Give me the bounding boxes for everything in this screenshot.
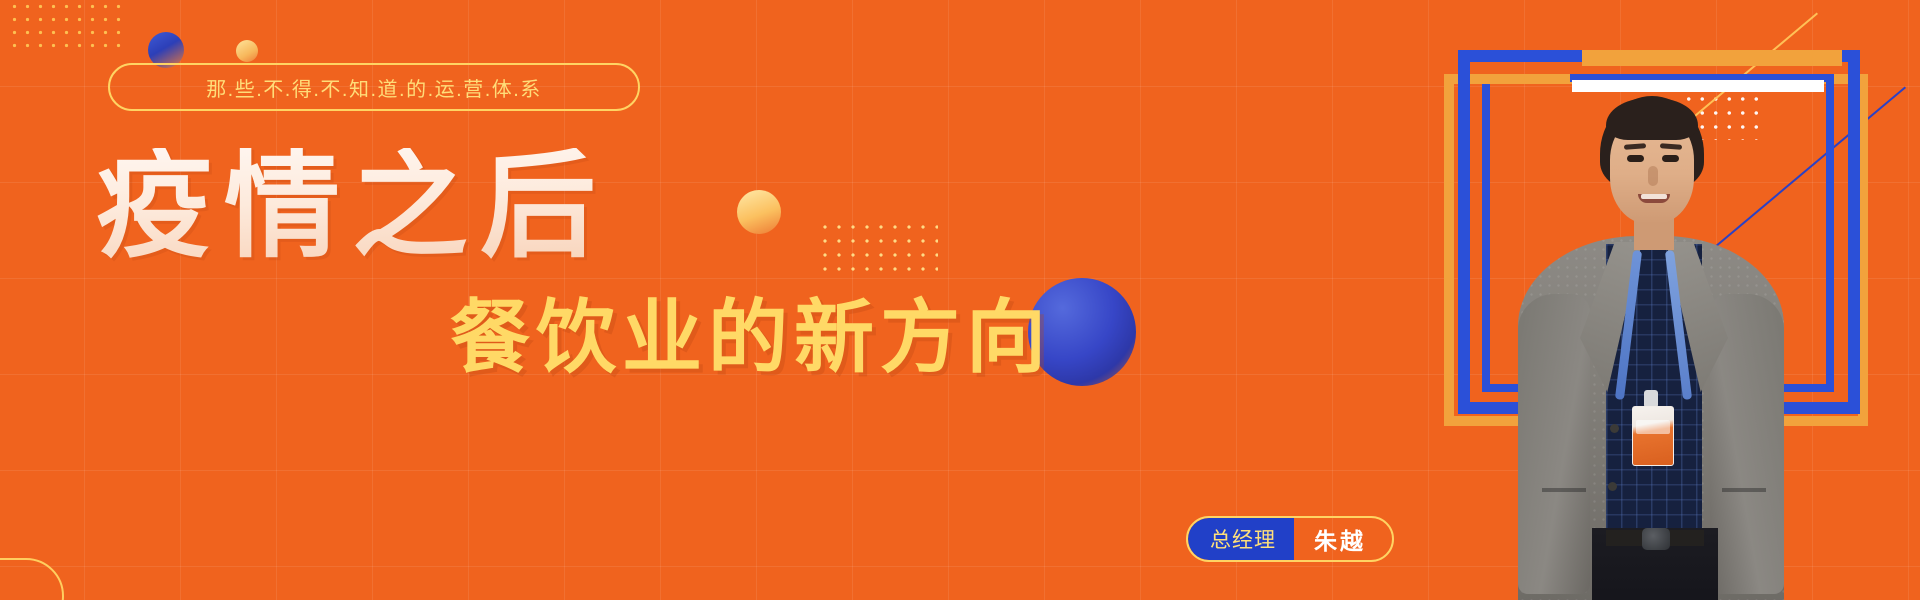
speaker-role: 总经理 [1188, 518, 1294, 560]
bar-orange-top [1582, 50, 1842, 66]
status-badge: 总经理 朱越 [1186, 516, 1394, 562]
dot-matrix-icon-top-left [8, 0, 123, 52]
avatar [1484, 68, 1814, 600]
nose [1648, 166, 1658, 186]
sleeve-left [1518, 294, 1590, 594]
jacket-button-1 [1610, 424, 1619, 433]
page-title: 疫情之后 [96, 148, 608, 264]
id-card-icon [1632, 406, 1674, 466]
teeth [1641, 194, 1667, 199]
pocket-right [1722, 488, 1766, 492]
jacket-button-2 [1608, 482, 1617, 491]
eye-right [1662, 155, 1679, 162]
belt-buckle [1642, 528, 1670, 550]
portrait-frame-group [1422, 28, 1902, 600]
speaker-name: 朱越 [1294, 518, 1392, 560]
circle-yellow-medium-icon [737, 190, 781, 234]
subtitle-text: 那.些.不.得.不.知.道.的.运.营.体.系 [206, 73, 542, 102]
subtitle-pill: 那.些.不.得.不.知.道.的.运.营.体.系 [108, 63, 640, 111]
promo-banner: 那.些.不.得.不.知.道.的.运.营.体.系 疫情之后 疫情之后 餐饮业的新方… [0, 0, 1920, 600]
eye-left [1627, 155, 1644, 162]
circle-yellow-small-icon [236, 40, 258, 62]
pocket-left [1542, 488, 1586, 492]
hair-fringe [1606, 98, 1698, 140]
id-card-highlight [1636, 420, 1670, 434]
page-subtitle: 餐饮业的新方向 [450, 298, 1052, 378]
dot-matrix-icon-middle [818, 220, 938, 272]
